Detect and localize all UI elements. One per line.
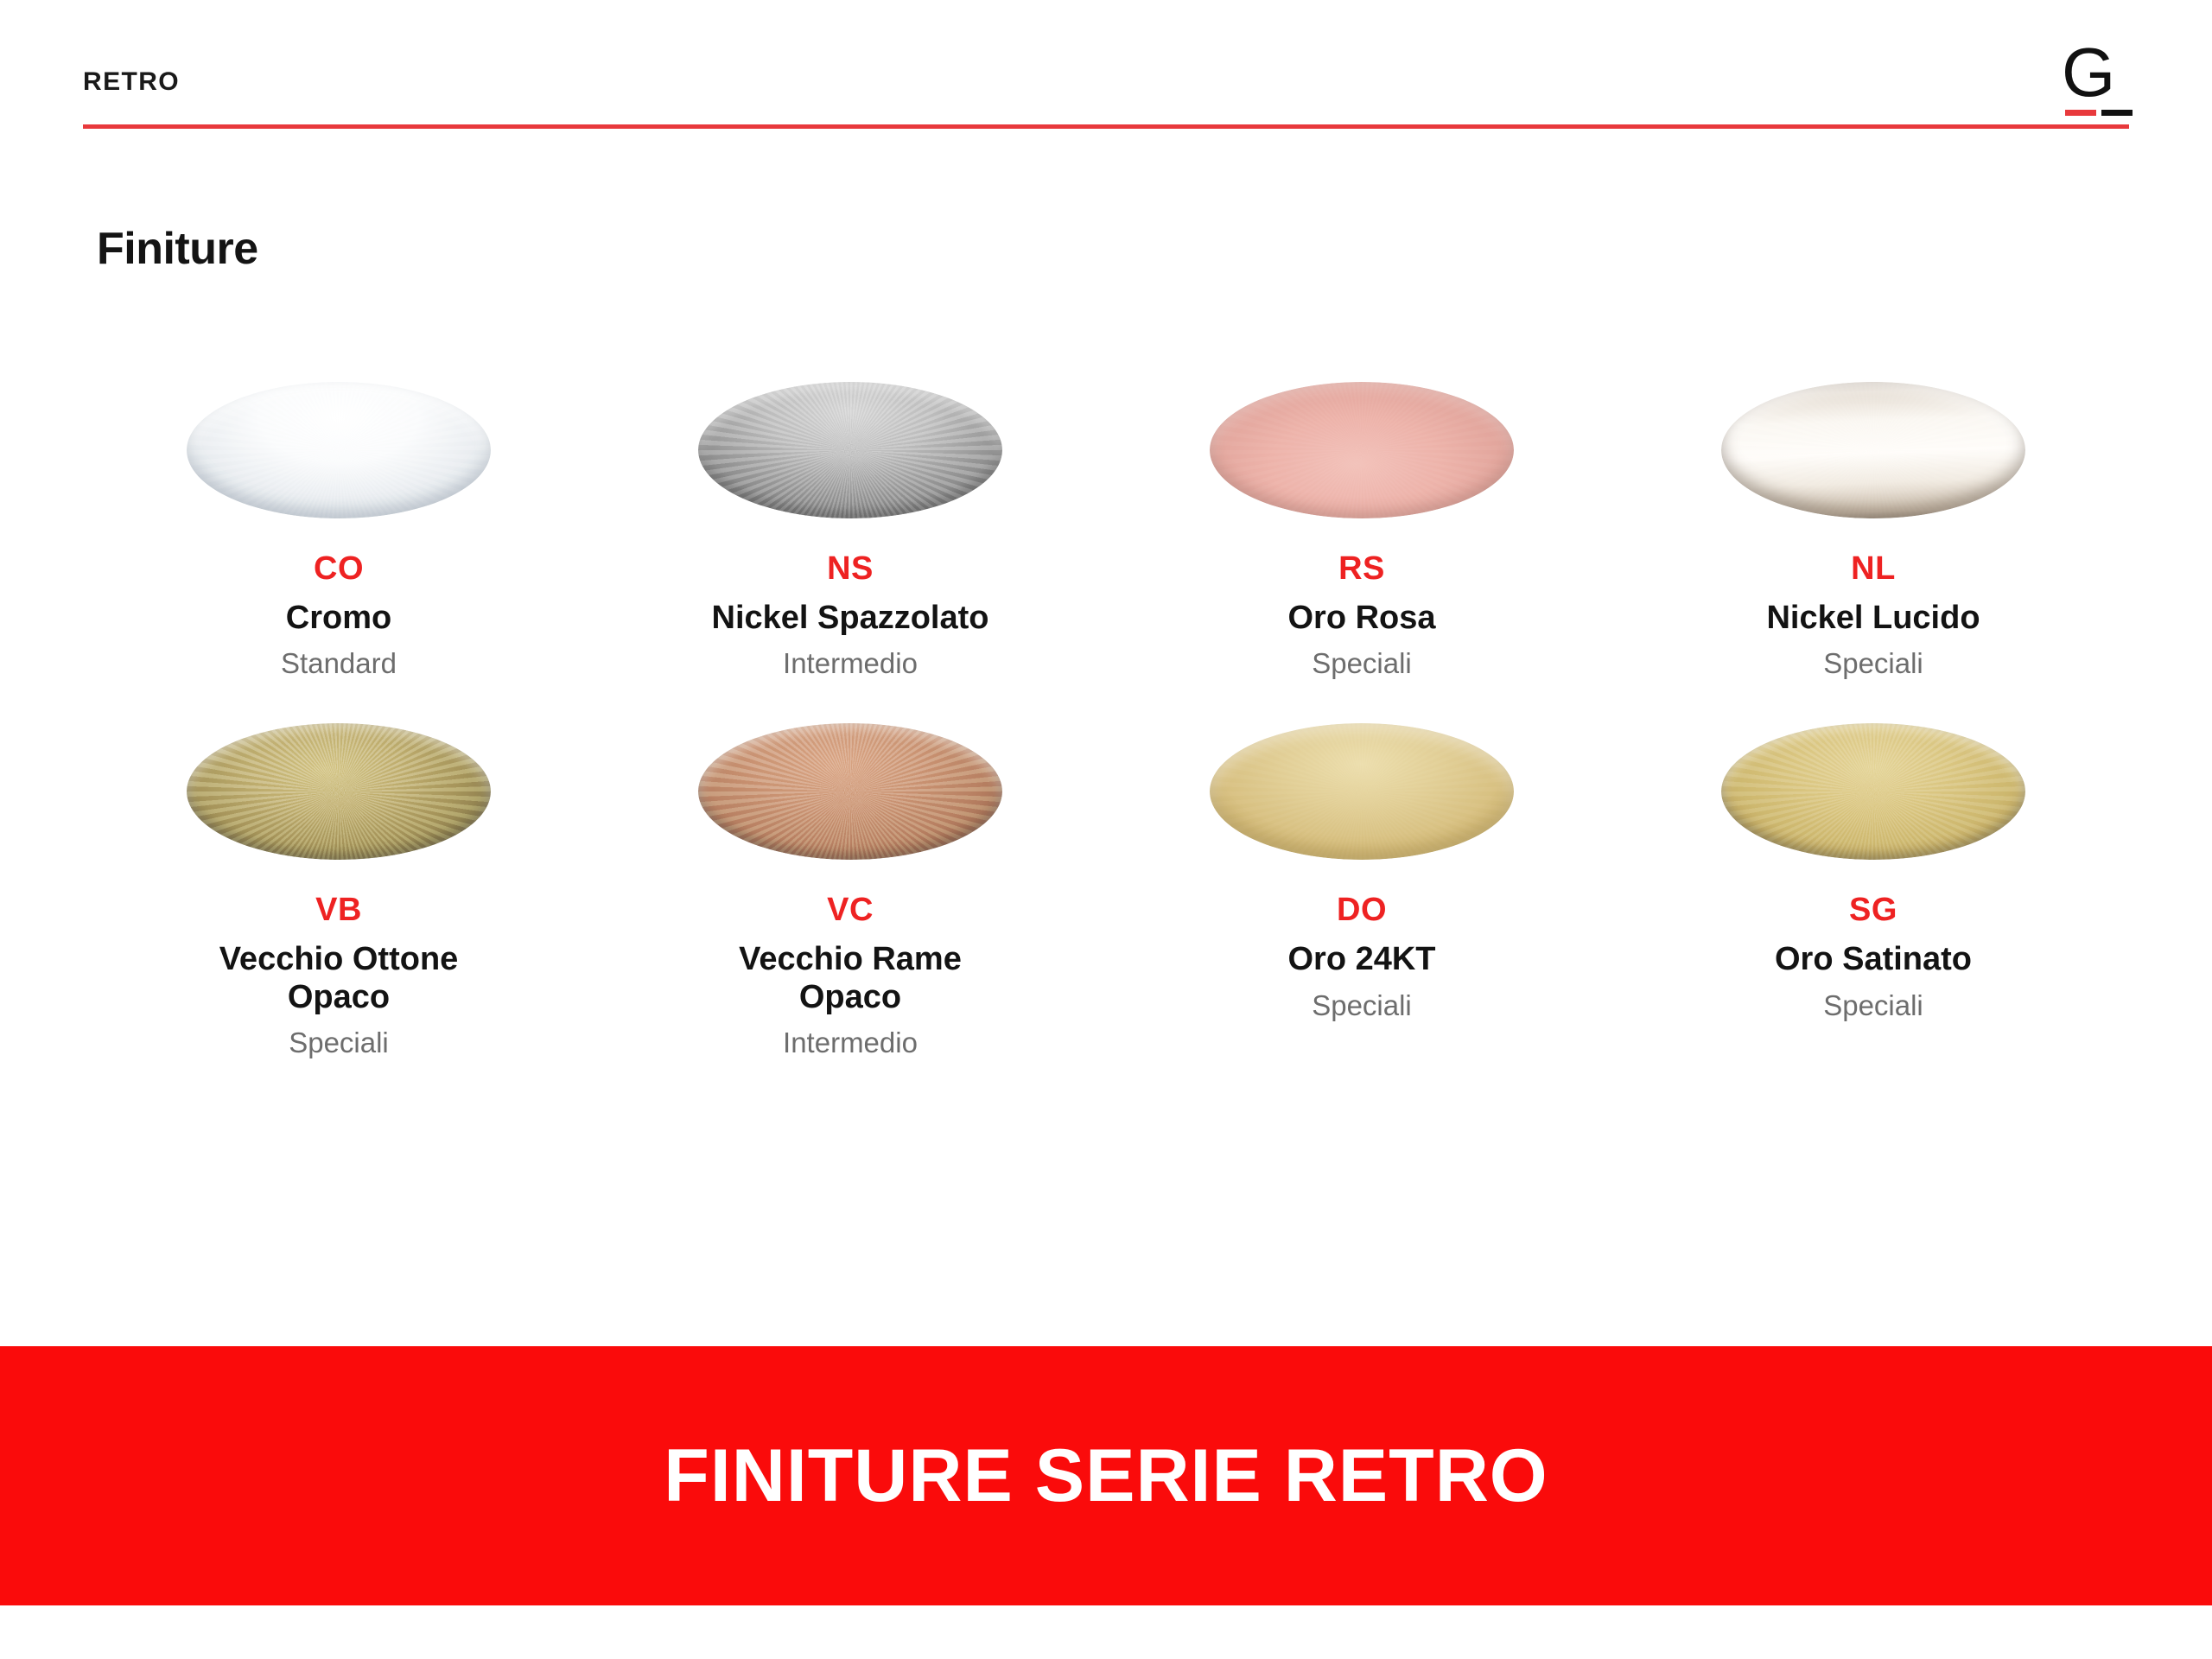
finish-card[interactable]: VCVecchio Rame OpacoIntermedio bbox=[594, 696, 1106, 1059]
header-divider-rule bbox=[83, 124, 2129, 129]
finish-tier: Speciali bbox=[289, 1027, 389, 1059]
finish-swatch-wrap bbox=[682, 361, 1019, 538]
finish-tier: Standard bbox=[281, 647, 397, 680]
section-title: Finiture bbox=[97, 223, 258, 275]
finish-swatch-wrap bbox=[170, 702, 507, 880]
finish-name: Nickel Spazzolato bbox=[712, 600, 989, 637]
polished-nickel-swatch[interactable] bbox=[1721, 382, 2025, 518]
finish-code: CO bbox=[314, 550, 364, 588]
finish-code: RS bbox=[1338, 550, 1385, 588]
finish-code: NS bbox=[827, 550, 874, 588]
finishes-grid: COCromoStandardNSNickel SpazzolatoInterm… bbox=[83, 354, 2129, 1059]
header-series-label: RETRO bbox=[83, 67, 180, 97]
finish-code: SG bbox=[1849, 892, 1897, 929]
swatch-rim-layer bbox=[1210, 723, 1514, 860]
finish-name: Vecchio Rame Opaco bbox=[695, 941, 1006, 1016]
finish-card[interactable]: NSNickel SpazzolatoIntermedio bbox=[594, 354, 1106, 680]
logo-letter-g-icon: G bbox=[2062, 40, 2115, 105]
finish-swatch-wrap bbox=[1193, 702, 1530, 880]
footer-banner: FINITURE SERIE RETRO bbox=[0, 1346, 2212, 1605]
swatch-rim-layer bbox=[698, 723, 1002, 860]
logo-black-bar-icon bbox=[2101, 110, 2133, 116]
finish-swatch-wrap bbox=[170, 361, 507, 538]
finish-tier: Intermedio bbox=[783, 647, 918, 680]
gold-24kt-swatch[interactable] bbox=[1210, 723, 1514, 860]
antique-copper-swatch[interactable] bbox=[698, 723, 1002, 860]
finish-code: DO bbox=[1337, 892, 1387, 929]
finish-swatch-wrap bbox=[682, 702, 1019, 880]
slide-header: RETRO G bbox=[0, 0, 2212, 138]
antique-brass-swatch[interactable] bbox=[187, 723, 491, 860]
rose-gold-swatch[interactable] bbox=[1210, 382, 1514, 518]
finish-card[interactable]: RSOro RosaSpeciali bbox=[1106, 354, 1618, 680]
swatch-rim-layer bbox=[1721, 382, 2025, 518]
finish-card[interactable]: COCromoStandard bbox=[83, 354, 594, 680]
finish-card[interactable]: DOOro 24KTSpeciali bbox=[1106, 696, 1618, 1059]
footer-banner-title: FINITURE SERIE RETRO bbox=[664, 1433, 1548, 1519]
finish-code: VC bbox=[827, 892, 874, 929]
swatch-rim-layer bbox=[1721, 723, 2025, 860]
finish-name: Nickel Lucido bbox=[1766, 600, 1980, 637]
swatch-rim-layer bbox=[1210, 382, 1514, 518]
finish-name: Cromo bbox=[286, 600, 391, 637]
finish-swatch-wrap bbox=[1705, 361, 2042, 538]
finish-card[interactable]: NLNickel LucidoSpeciali bbox=[1618, 354, 2129, 680]
finish-card[interactable]: VBVecchio Ottone OpacoSpeciali bbox=[83, 696, 594, 1059]
swatch-rim-layer bbox=[187, 723, 491, 860]
slide-root: RETRO G Finiture COCromoStandardNSNickel… bbox=[0, 0, 2212, 1659]
satin-gold-swatch[interactable] bbox=[1721, 723, 2025, 860]
finish-swatch-wrap bbox=[1705, 702, 2042, 880]
finish-code: NL bbox=[1851, 550, 1896, 588]
swatch-rim-layer bbox=[698, 382, 1002, 518]
finish-tier: Speciali bbox=[1312, 989, 1412, 1022]
finish-name: Vecchio Ottone Opaco bbox=[183, 941, 494, 1016]
finish-name: Oro Rosa bbox=[1287, 600, 1435, 637]
brushed-nickel-swatch[interactable] bbox=[698, 382, 1002, 518]
brand-logo: G bbox=[2062, 40, 2141, 123]
finish-tier: Speciali bbox=[1312, 647, 1412, 680]
finish-tier: Speciali bbox=[1823, 989, 1923, 1022]
finish-code: VB bbox=[315, 892, 362, 929]
swatch-rim-layer bbox=[187, 382, 491, 518]
finish-swatch-wrap bbox=[1193, 361, 1530, 538]
logo-red-bar-icon bbox=[2065, 110, 2096, 116]
finish-name: Oro Satinato bbox=[1775, 941, 1972, 978]
finish-card[interactable]: SGOro SatinatoSpeciali bbox=[1618, 696, 2129, 1059]
finish-name: Oro 24KT bbox=[1287, 941, 1435, 978]
chrome-swatch[interactable] bbox=[187, 382, 491, 518]
finish-tier: Speciali bbox=[1823, 647, 1923, 680]
finish-tier: Intermedio bbox=[783, 1027, 918, 1059]
